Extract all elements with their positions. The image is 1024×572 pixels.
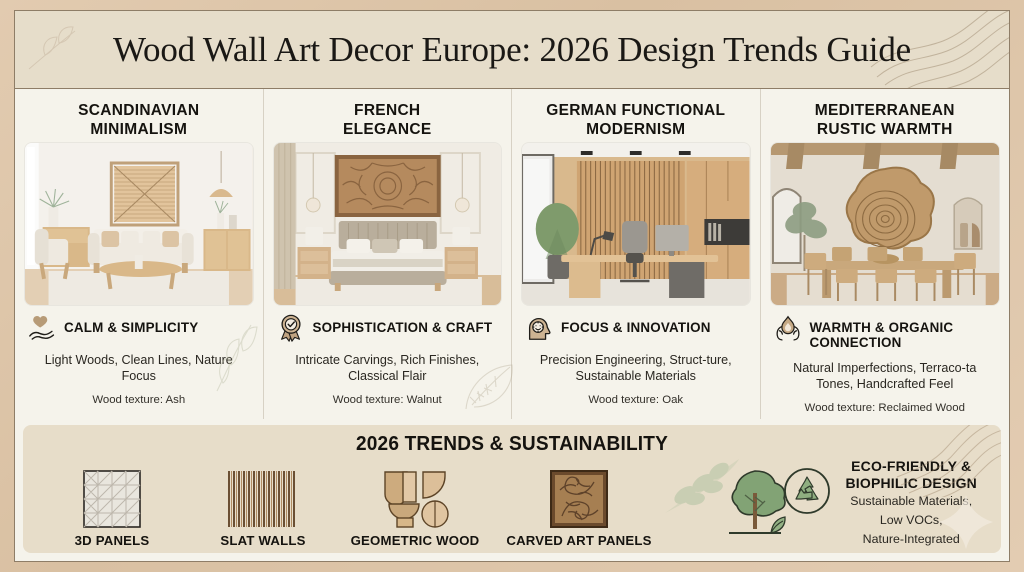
column-title-line1: FRENCH [343,101,432,120]
style-columns: SCANDINAVIAN MINIMALISM [15,89,1009,419]
trend-label: GEOMETRIC WOOD [351,533,480,548]
french-bedroom-illustration [274,143,502,305]
column-title-line1: GERMAN FUNCTIONAL [546,101,725,120]
trait-label: FOCUS & INNOVATION [561,316,711,335]
flame-in-hands-icon [773,313,803,343]
trend-item-3d-panels[interactable]: 3D PANELS [37,469,187,548]
infographic-poster: Wood Wall Art Decor Europe: 2026 Design … [0,0,1024,572]
award-ribbon-icon [276,313,306,343]
slat-wall-icon [226,469,300,529]
wood-texture-note: Wood texture: Reclaimed Wood [805,402,965,414]
column-french-elegance[interactable]: FRENCH ELEGANCE [264,89,513,419]
trend-label: CARVED ART PANELS [506,533,651,548]
column-title-line2: MODERNISM [546,120,725,139]
trait-row: FOCUS & INNOVATION [522,316,750,343]
column-title-line2: MINIMALISM [78,120,199,139]
room-photo-mediterranean[interactable] [771,143,1000,305]
wood-texture-note: Wood texture: Walnut [333,394,442,406]
wood-texture-note: Wood texture: Oak [588,394,683,406]
carved-panel-icon [550,469,608,529]
olive-branch-decoration-icon [659,453,749,519]
trait-row: CALM & SIMPLICITY [25,316,253,343]
column-title: SCANDINAVIAN MINIMALISM [78,97,199,140]
band-heading: 2026 TRENDS & SUSTAINABILITY [57,425,967,456]
column-description: Natural Imperfections, Terraco-ta Tones,… [771,360,1000,393]
column-title-line2: RUSTIC WARMTH [815,120,955,139]
trait-label: CALM & SIMPLICITY [64,316,198,335]
column-german-functional-modernism[interactable]: GERMAN FUNCTIONAL MODERNISM [512,89,761,419]
trait-row: WARMTH & ORGANIC CONNECTION [771,316,1000,351]
trend-label: 3D PANELS [75,533,150,548]
wood-texture-note: Wood texture: Ash [92,394,185,406]
room-photo-german[interactable] [522,143,750,305]
scandinavian-living-room-illustration [25,143,253,305]
poster-header: Wood Wall Art Decor Europe: 2026 Design … [15,11,1009,89]
trend-list: 3D PANELS SLAT WALLS [23,456,1001,548]
3d-panel-icon [83,469,141,529]
trait-label: SOPHISTICATION & CRAFT [313,316,493,335]
column-title-line1: MEDITERRANEAN [815,101,955,120]
trends-sustainability-band: 2026 TRENDS & SUSTAINABILITY 3D PANELS [23,425,1001,553]
column-description: Light Woods, Clean Lines, Nature Focus [25,352,253,385]
german-office-illustration [522,143,750,305]
column-title-line1: SCANDINAVIAN [78,101,199,120]
column-description: Precision Engineering, Struct-ture, Sust… [522,352,750,385]
head-innovation-icon [524,313,554,343]
mediterranean-dining-room-illustration [771,143,1000,305]
trait-row: SOPHISTICATION & CRAFT [274,316,502,343]
room-photo-scandinavian[interactable] [25,143,253,305]
trend-item-geometric-wood[interactable]: GEOMETRIC WOOD [339,469,491,548]
column-title-line2: ELEGANCE [343,120,432,139]
column-mediterranean-rustic-warmth[interactable]: MEDITERRANEAN RUSTIC WARMTH [761,89,1010,419]
trend-label: SLAT WALLS [220,533,305,548]
column-title: MEDITERRANEAN RUSTIC WARMTH [815,97,955,140]
leaf-decoration-icon [23,17,93,77]
trend-item-carved-art-panels[interactable]: CARVED ART PANELS [491,469,667,548]
column-scandinavian-minimalism[interactable]: SCANDINAVIAN MINIMALISM [15,89,264,419]
room-photo-french[interactable] [274,143,502,305]
geometric-wood-icon [379,469,451,529]
page-title: Wood Wall Art Decor Europe: 2026 Design … [113,30,911,70]
column-title: FRENCH ELEGANCE [343,97,432,140]
trait-label: WARMTH & ORGANIC CONNECTION [810,316,998,351]
poster-card: Wood Wall Art Decor Europe: 2026 Design … [14,10,1010,562]
heart-in-hand-icon [27,313,57,343]
sparkle-decoration-icon [937,493,995,551]
column-description: Intricate Carvings, Rich Finishes, Class… [274,352,502,385]
trend-item-slat-walls[interactable]: SLAT WALLS [187,469,339,548]
column-title: GERMAN FUNCTIONAL MODERNISM [546,97,725,140]
